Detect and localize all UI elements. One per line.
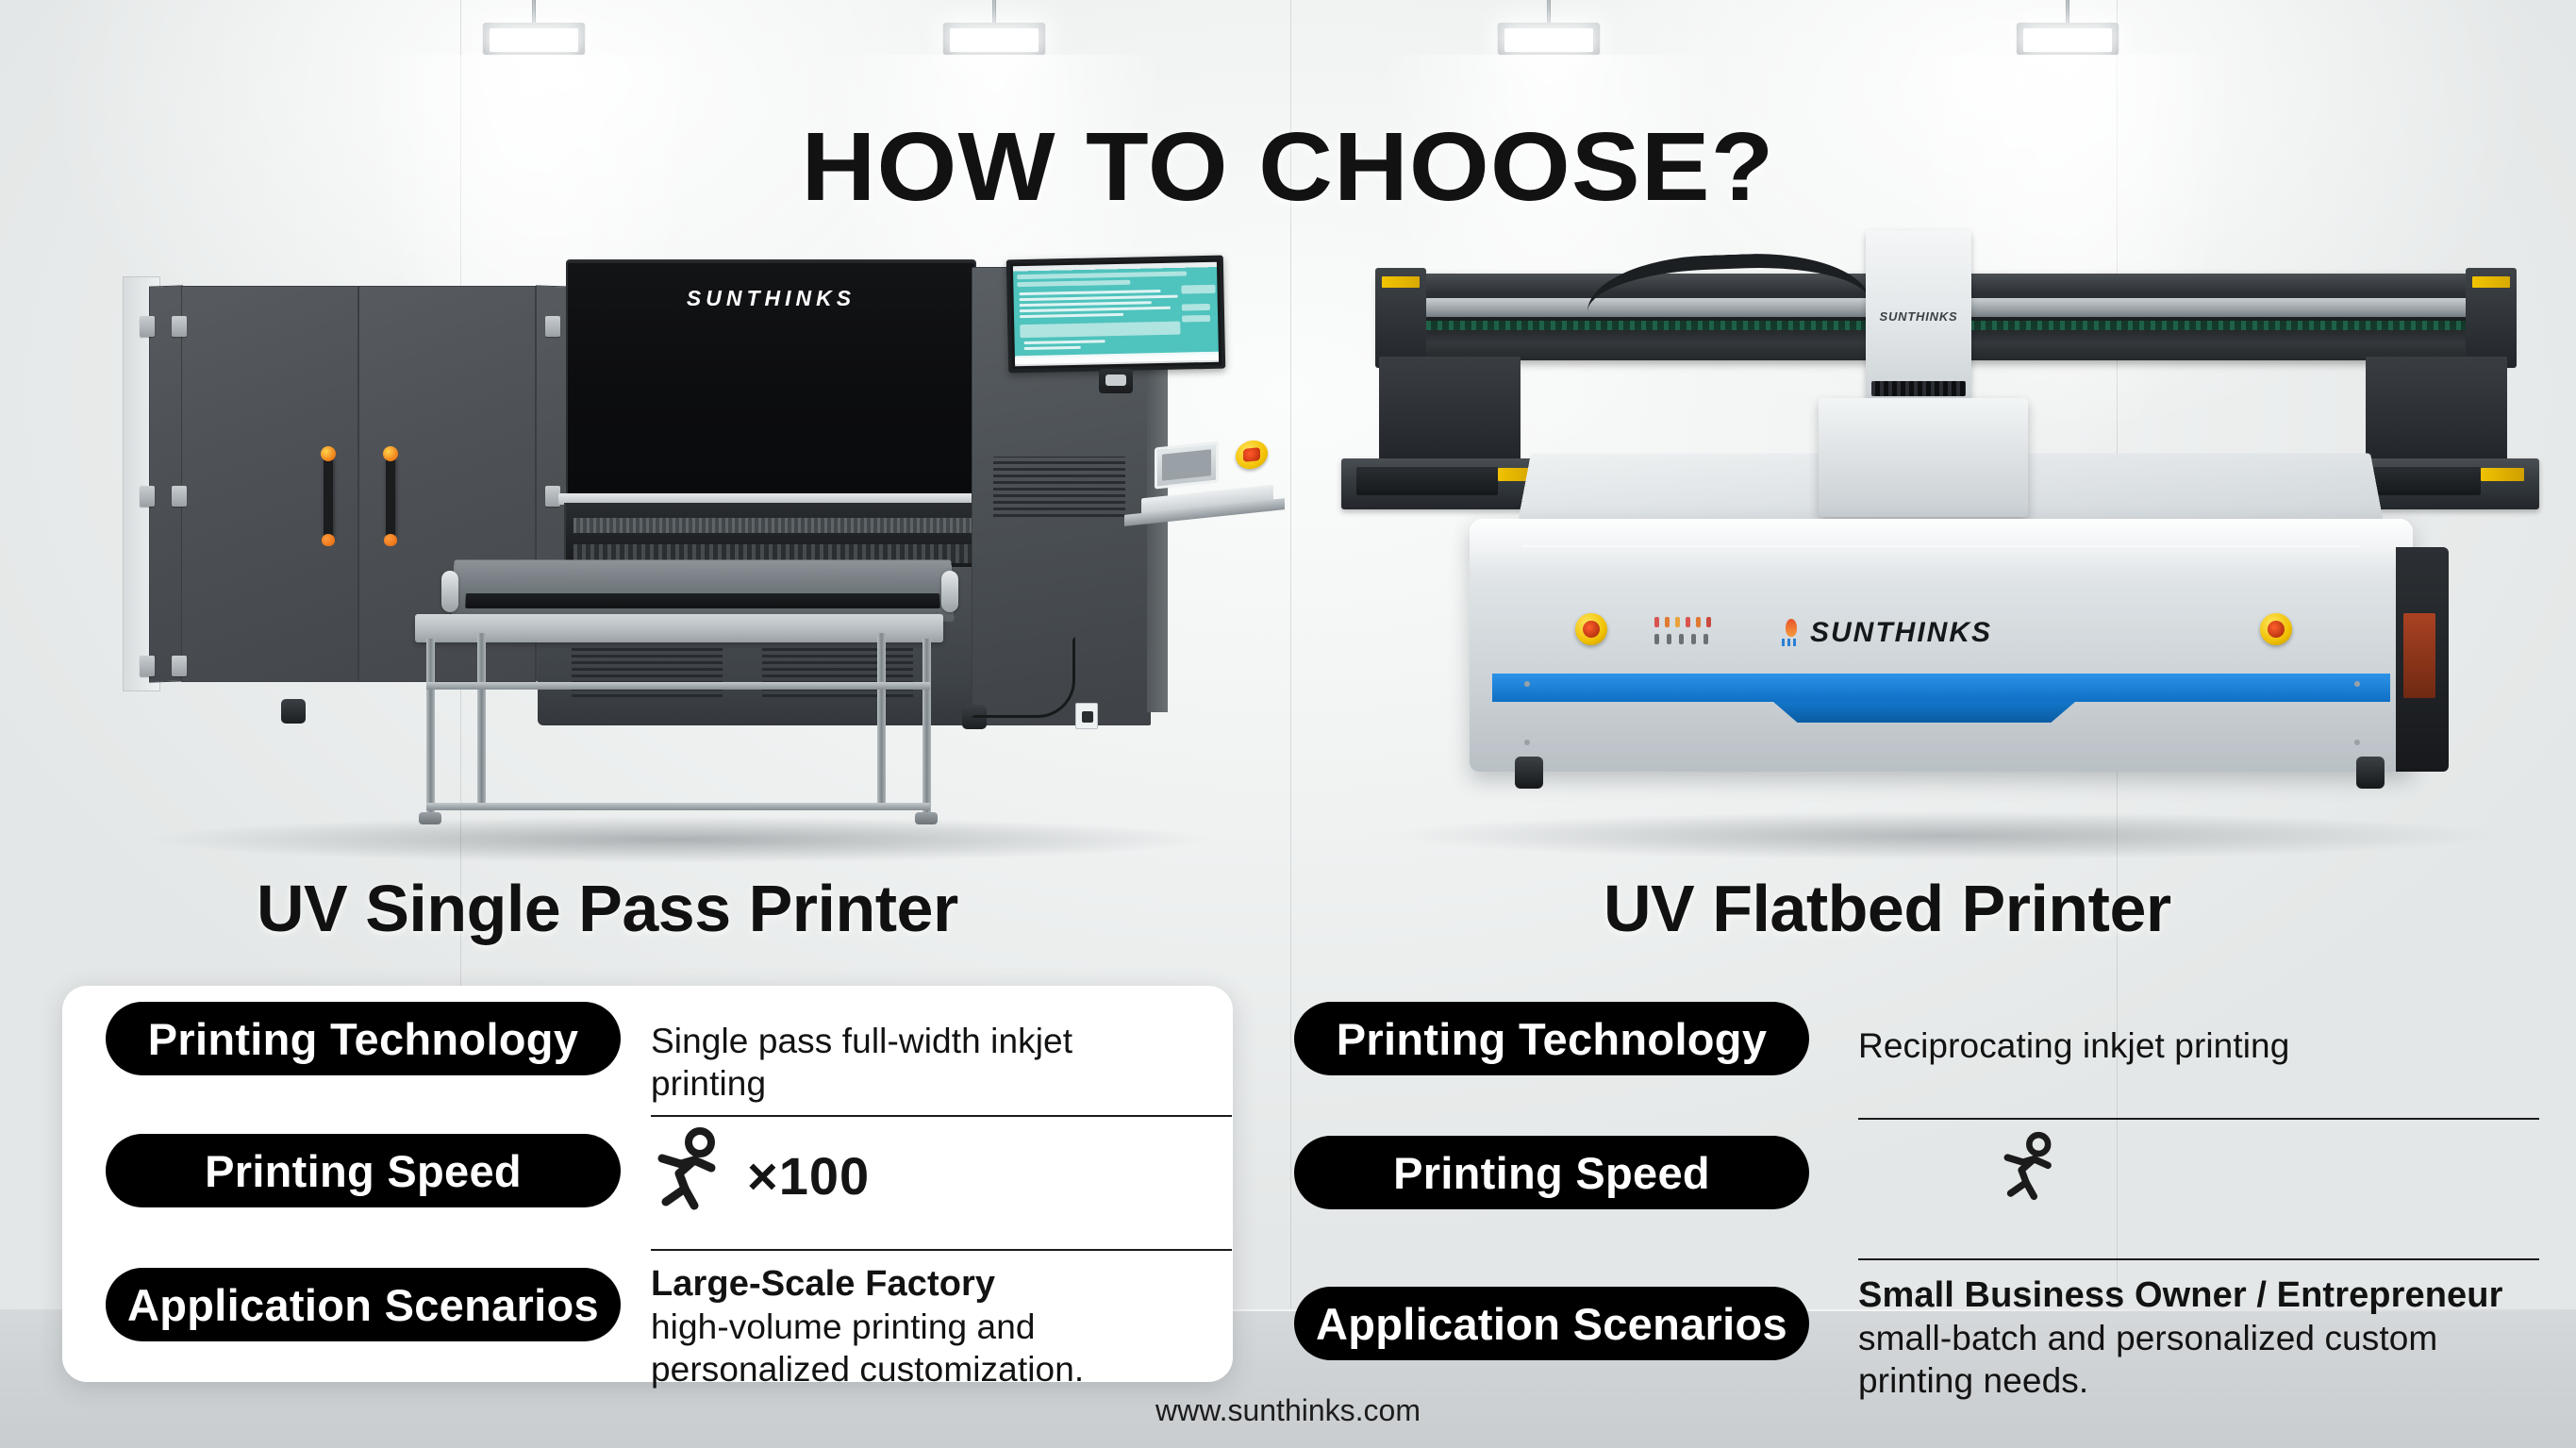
conveyor-belt bbox=[451, 559, 954, 622]
spec-divider bbox=[651, 1249, 1232, 1251]
spec-value-headline: Small Business Owner / Entrepreneur bbox=[1858, 1273, 2518, 1317]
panel-screw bbox=[2354, 740, 2360, 745]
product-image-uv-single-pass-printer: SUNTHINKS bbox=[123, 259, 1236, 863]
touchscreen-panel[interactable] bbox=[1155, 441, 1219, 489]
spec-value-application-scenarios: Small Business Owner / Entrepreneur smal… bbox=[1858, 1273, 2518, 1403]
feed-table-top bbox=[415, 614, 943, 642]
spec-value-printing-speed-multiplier: ×100 bbox=[747, 1145, 870, 1207]
product-image-uv-flatbed-printer: SUNTHINKS bbox=[1349, 236, 2547, 868]
printer-hood: SUNTHINKS bbox=[566, 259, 976, 495]
operator-monitor bbox=[1006, 256, 1225, 374]
table-leg bbox=[877, 633, 886, 803]
spec-value-detail: high-volume printing and personalized cu… bbox=[651, 1307, 1084, 1389]
power-outlet bbox=[1075, 703, 1098, 729]
product-title-left: UV Single Pass Printer bbox=[257, 871, 958, 946]
belt-roller bbox=[441, 571, 458, 612]
page-title: HOW TO CHOOSE? bbox=[0, 111, 2576, 223]
door-hinge bbox=[172, 486, 187, 507]
door-hinge bbox=[172, 656, 187, 676]
gantry-endcap-left bbox=[1375, 268, 1426, 368]
print-carriage-tower: SUNTHINKS bbox=[1866, 230, 1971, 400]
table-crossbar bbox=[426, 682, 930, 690]
gantry-side-box-right bbox=[2366, 357, 2507, 462]
power-cable bbox=[972, 637, 1075, 718]
machine-caster bbox=[281, 699, 306, 724]
side-electronics-column bbox=[2396, 547, 2449, 772]
spec-label-printing-speed: Printing Speed bbox=[1294, 1136, 1809, 1209]
status-led-panel bbox=[1654, 617, 1728, 649]
running-man-icon bbox=[653, 1126, 728, 1213]
vent-grille bbox=[572, 648, 723, 697]
spec-value-headline: Large-Scale Factory bbox=[651, 1262, 1217, 1306]
table-leg bbox=[477, 633, 486, 803]
belt-slot bbox=[465, 593, 940, 608]
spec-list-uv-flatbed: Printing Technology Reciprocating inkjet… bbox=[1294, 1002, 2539, 1370]
cabinet-door-left bbox=[181, 286, 358, 682]
printer-body: SUNTHINKS bbox=[1470, 519, 2413, 772]
monitor-screen bbox=[1013, 262, 1219, 367]
engine-rail bbox=[573, 518, 973, 533]
spec-label-application-scenarios: Application Scenarios bbox=[1294, 1287, 1809, 1360]
panel-seam bbox=[1522, 545, 2360, 547]
belt-roller bbox=[941, 571, 958, 612]
infographic-stage: HOW TO CHOOSE? SUNTHINKS bbox=[0, 0, 2576, 1448]
gantry-side-box-left bbox=[1379, 357, 1521, 462]
table-leg bbox=[426, 639, 435, 816]
machine-caster bbox=[1515, 757, 1543, 789]
spec-divider bbox=[1858, 1118, 2539, 1120]
machine-caster bbox=[2356, 757, 2385, 789]
spec-label-printing-technology: Printing Technology bbox=[1294, 1002, 1809, 1075]
spec-label-printing-technology: Printing Technology bbox=[106, 1002, 621, 1075]
cable-chain bbox=[1586, 250, 1870, 314]
spec-value-printing-technology: Single pass full-width inkjet printing bbox=[651, 1020, 1179, 1105]
table-leg bbox=[922, 639, 931, 816]
spec-label-application-scenarios: Application Scenarios bbox=[106, 1268, 621, 1341]
carriage-brand-logo: SUNTHINKS bbox=[1866, 309, 1971, 324]
cabinet-door-outer-left bbox=[149, 285, 183, 682]
product-title-right: UV Flatbed Printer bbox=[1604, 871, 2171, 946]
monitor-stand bbox=[1099, 369, 1133, 393]
emergency-stop-button-right[interactable] bbox=[2260, 613, 2292, 645]
door-handle bbox=[386, 455, 395, 540]
door-hinge bbox=[545, 316, 560, 337]
table-foot bbox=[915, 812, 938, 824]
vent-grille bbox=[762, 648, 913, 697]
spec-list-uv-single-pass: Printing Technology Single pass full-wid… bbox=[106, 1002, 1209, 1370]
machine-brand-logo: SUNTHINKS bbox=[568, 286, 974, 311]
door-hinge bbox=[140, 656, 155, 676]
gantry-endcap-right bbox=[2466, 268, 2517, 368]
flame-logo-icon bbox=[1781, 619, 1802, 647]
machine-brand-logo-group: SUNTHINKS bbox=[1781, 617, 1992, 649]
print-carriage-body bbox=[1819, 398, 2028, 517]
spec-value-application-scenarios: Large-Scale Factory high-volume printing… bbox=[651, 1262, 1217, 1391]
table-crossbar bbox=[426, 803, 930, 810]
printhead-array bbox=[1871, 381, 1966, 396]
running-man-icon bbox=[2000, 1130, 2062, 1204]
spec-divider bbox=[1858, 1258, 2539, 1260]
panel-screw bbox=[2354, 681, 2360, 687]
emergency-stop-button-left[interactable] bbox=[1575, 613, 1607, 645]
machine-shadow bbox=[141, 816, 1217, 863]
door-handle bbox=[324, 455, 333, 540]
door-hinge bbox=[140, 316, 155, 337]
door-hinge bbox=[140, 486, 155, 507]
machine-shadow bbox=[1387, 811, 2500, 860]
spec-value-printing-technology: Reciprocating inkjet printing bbox=[1858, 1024, 2443, 1067]
table-foot bbox=[419, 812, 441, 824]
panel-screw bbox=[1524, 681, 1530, 687]
door-hinge bbox=[172, 316, 187, 337]
blue-accent-stripe bbox=[1492, 674, 2390, 702]
spec-divider bbox=[651, 1115, 1232, 1117]
footer-website-url: www.sunthinks.com bbox=[0, 1393, 2576, 1428]
spec-label-printing-speed: Printing Speed bbox=[106, 1134, 621, 1207]
vent-grille bbox=[993, 457, 1125, 517]
spec-value-detail: small-batch and personalized custom prin… bbox=[1858, 1319, 2437, 1400]
panel-screw bbox=[1524, 740, 1530, 745]
blue-accent-notch bbox=[1773, 702, 2075, 723]
machine-brand-logo: SUNTHINKS bbox=[1810, 617, 1992, 649]
